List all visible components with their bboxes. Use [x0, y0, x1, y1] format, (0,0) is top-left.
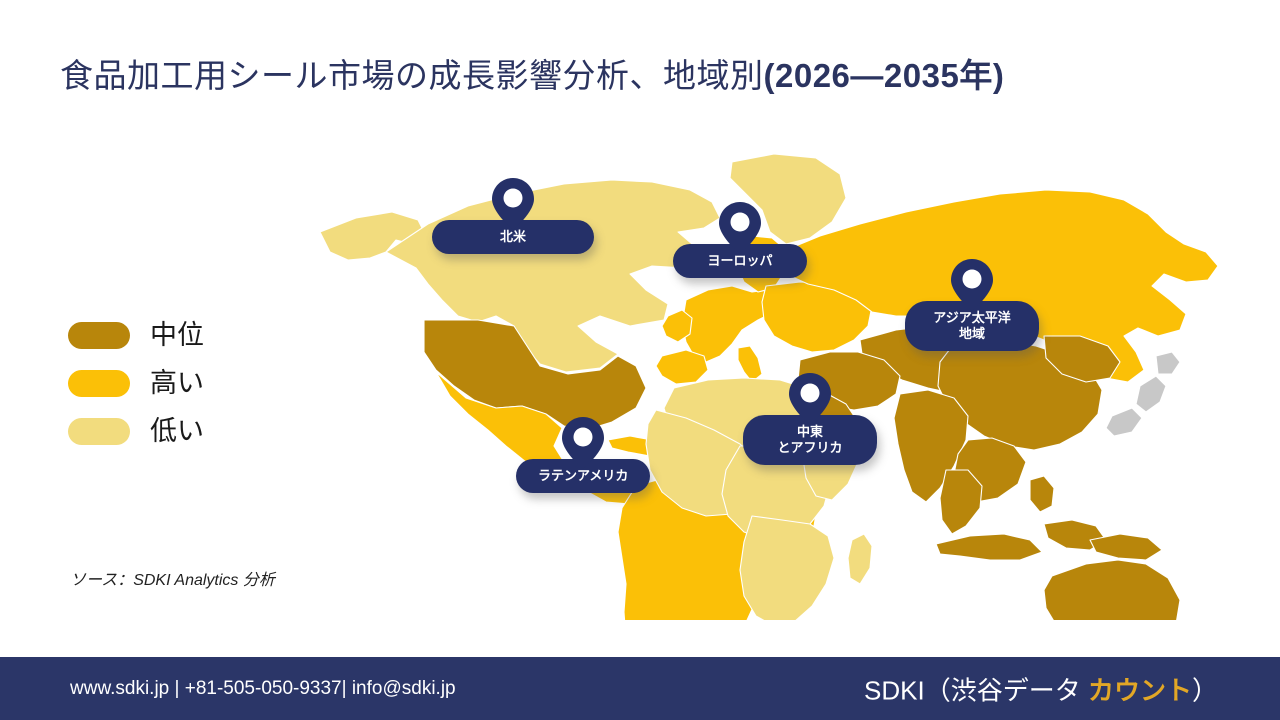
- legend-item-low: 低い: [68, 408, 298, 454]
- region-indochina: [940, 470, 982, 534]
- legend-swatch-medium: [68, 322, 130, 349]
- location-pin-icon: [718, 200, 762, 256]
- footer-brand-suffix: ）: [1192, 675, 1218, 705]
- map-pin-europe[interactable]: ヨーロッパ: [673, 200, 807, 278]
- footer-brand-accent: カウント: [1088, 675, 1192, 705]
- legend-label-high: 高い: [150, 370, 204, 397]
- footer-brand: SDKI（渋谷データ カウント）: [864, 670, 1218, 707]
- map-pin-north-america[interactable]: 北米: [432, 176, 594, 254]
- legend-label-low: 低い: [150, 418, 204, 445]
- region-australia: [1044, 560, 1180, 620]
- page-title: 食品加工用シール市場の成長影響分析、地域別(2026—2035年): [60, 54, 1004, 98]
- map-pin-middle-east-africa[interactable]: 中東 とアフリカ: [743, 371, 877, 465]
- region-japan-south: [1106, 408, 1142, 436]
- region-new-guinea: [1090, 534, 1162, 560]
- footer-contact-info[interactable]: www.sdki.jp | +81-505-050-9337| info@sdk…: [70, 678, 456, 700]
- footer-bar: www.sdki.jp | +81-505-050-9337| info@sdk…: [0, 657, 1280, 720]
- region-philippines: [1030, 476, 1054, 512]
- region-madagascar: [848, 534, 872, 584]
- footer-brand-prefix: SDKI（渋谷データ: [864, 675, 1088, 705]
- page-title-years: (2026—2035年): [764, 57, 1005, 94]
- region-japan: [1136, 376, 1166, 412]
- region-hokkaido: [1156, 352, 1180, 374]
- page-title-main: 食品加工用シール市場の成長影響分析、地域別: [60, 57, 764, 94]
- legend: 中位 高い 低い: [68, 312, 298, 456]
- source-note: ソース：SDKI Analytics 分析: [70, 566, 275, 590]
- location-pin-icon: [491, 176, 535, 232]
- legend-swatch-low: [68, 418, 130, 445]
- region-indonesia-1: [936, 534, 1042, 560]
- location-pin-icon: [561, 415, 605, 471]
- region-iberia: [656, 350, 708, 384]
- map-pin-latin-america[interactable]: ラテンアメリカ: [516, 415, 650, 493]
- legend-label-medium: 中位: [150, 322, 204, 349]
- location-pin-icon: [950, 257, 994, 313]
- map-pin-asia-pacific[interactable]: アジア太平洋 地域: [905, 257, 1039, 351]
- region-southern-africa: [740, 516, 834, 620]
- legend-item-high: 高い: [68, 360, 298, 406]
- legend-swatch-high: [68, 370, 130, 397]
- legend-item-medium: 中位: [68, 312, 298, 358]
- location-pin-icon: [788, 371, 832, 427]
